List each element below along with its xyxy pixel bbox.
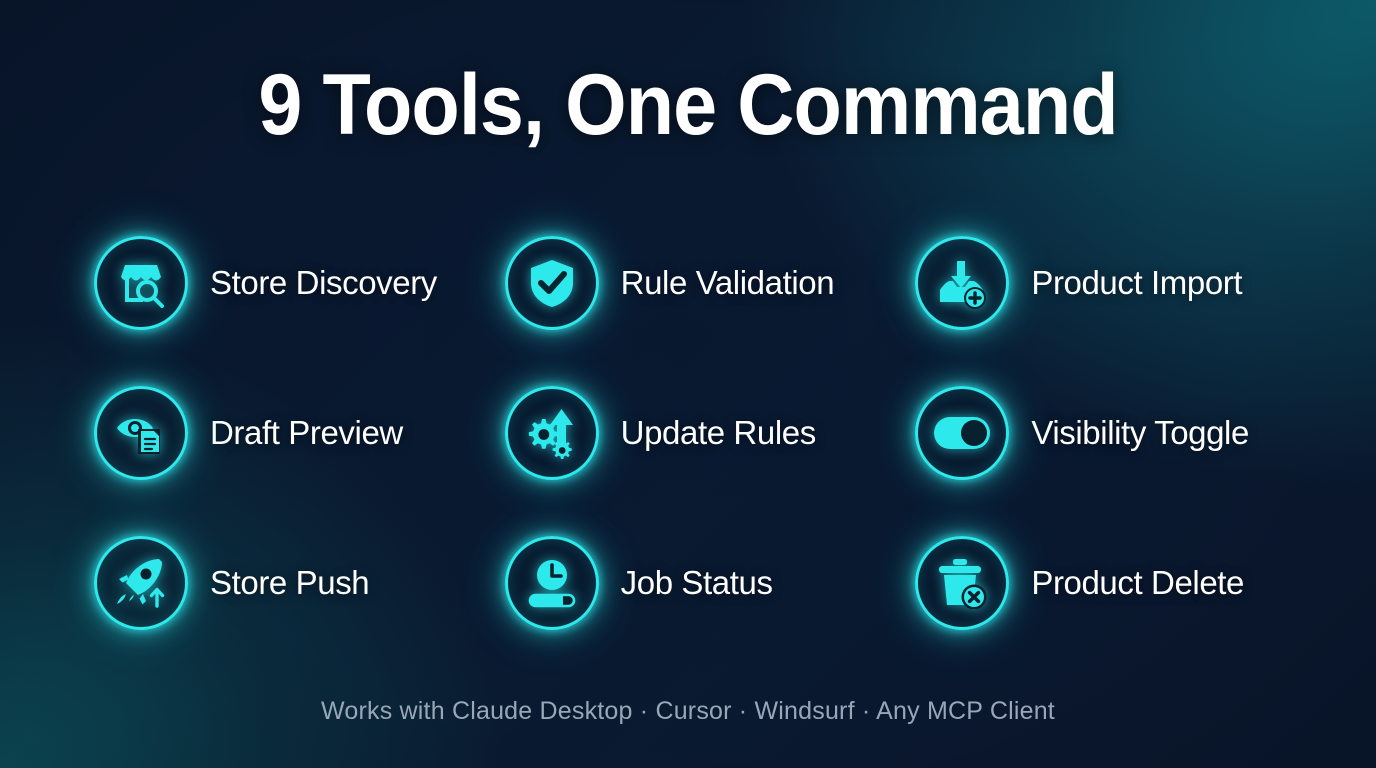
tool-label: Job Status xyxy=(621,564,773,602)
tool-item-store-push[interactable]: Store Push xyxy=(72,508,483,658)
rocket-up-arrow-icon xyxy=(114,557,168,609)
tool-item-product-import[interactable]: Product Import xyxy=(893,208,1304,358)
tool-item-update-rules[interactable]: Update Rules xyxy=(483,358,894,508)
tool-item-store-discovery[interactable]: Store Discovery xyxy=(72,208,483,358)
icon-badge xyxy=(915,536,1009,630)
tool-item-product-delete[interactable]: Product Delete xyxy=(893,508,1304,658)
storefront-search-icon xyxy=(115,257,167,309)
inbox-download-plus-icon xyxy=(935,257,989,309)
tool-label: Update Rules xyxy=(621,414,816,452)
tool-label: Product Delete xyxy=(1031,564,1244,602)
icon-badge xyxy=(505,386,599,480)
eye-document-icon xyxy=(114,409,168,457)
icon-badge xyxy=(505,236,599,330)
tool-item-rule-validation[interactable]: Rule Validation xyxy=(483,208,894,358)
clock-progress-icon xyxy=(525,558,579,608)
tool-item-visibility-toggle[interactable]: Visibility Toggle xyxy=(893,358,1304,508)
trash-x-icon xyxy=(935,557,989,609)
tools-grid: Store Discovery Rule Validation xyxy=(72,208,1304,658)
tool-label: Draft Preview xyxy=(210,414,403,452)
tool-label: Product Import xyxy=(1031,264,1242,302)
gears-up-arrow-icon xyxy=(525,407,579,459)
page-title: 9 Tools, One Command xyxy=(55,56,1321,155)
icon-badge xyxy=(915,236,1009,330)
tool-item-draft-preview[interactable]: Draft Preview xyxy=(72,358,483,508)
icon-badge xyxy=(94,236,188,330)
icon-badge xyxy=(94,536,188,630)
icon-badge xyxy=(915,386,1009,480)
tool-label: Store Push xyxy=(210,564,369,602)
tool-item-job-status[interactable]: Job Status xyxy=(483,508,894,658)
compatibility-footer: Works with Claude Desktop · Cursor · Win… xyxy=(0,697,1376,726)
icon-badge xyxy=(94,386,188,480)
tool-label: Rule Validation xyxy=(621,264,835,302)
tool-label: Visibility Toggle xyxy=(1031,414,1249,452)
slide-canvas: 9 Tools, One Command Store Discovery xyxy=(0,0,1376,768)
icon-badge xyxy=(505,536,599,630)
tool-label: Store Discovery xyxy=(210,264,437,302)
toggle-on-icon xyxy=(933,416,991,450)
shield-check-icon xyxy=(527,257,577,309)
